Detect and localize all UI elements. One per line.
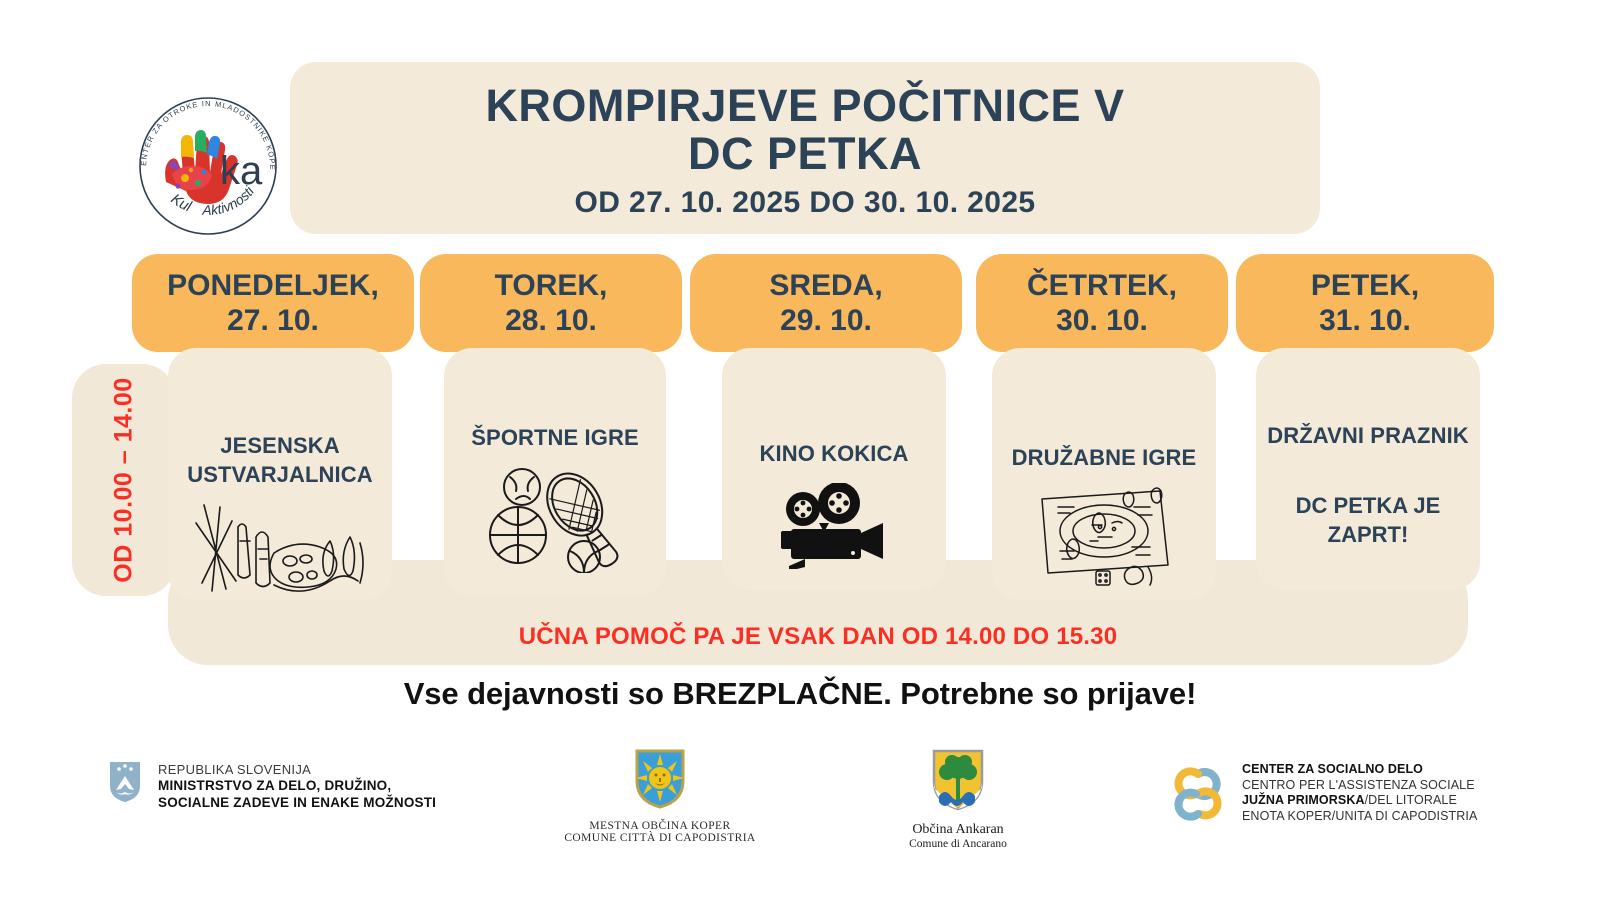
- csd-logo-icon: [1168, 758, 1230, 835]
- koper-line-1: MESTNA OBČINA KOPER: [564, 820, 755, 832]
- day-date: 27. 10.: [227, 303, 319, 338]
- day-header-row: PONEDELJEK, 27. 10. TOREK, 28. 10. SREDA…: [0, 254, 1600, 352]
- day-header-thursday: ČETRTEK, 30. 10.: [976, 254, 1228, 352]
- title-card: KROMPIRJEVE POČITNICE V DC PETKA OD 27. …: [290, 62, 1320, 234]
- activity-card-friday: DRŽAVNI PRAZNIK DC PETKA JE ZAPRT!: [1256, 348, 1480, 590]
- activity-card-row: JESENSKA USTVARJALNICA: [0, 348, 1600, 608]
- csd-line-4: ENOTA KOPER/UNITA DI CAPODISTRIA: [1242, 809, 1477, 825]
- ministry-line-2: MINISTRSTVO ZA DELO, DRUŽINO,: [158, 778, 436, 795]
- page-title-line-1: KROMPIRJEVE POČITNICE V: [485, 80, 1124, 131]
- ministry-line-1: REPUBLIKA SLOVENIJA: [158, 762, 436, 778]
- day-name: SREDA,: [769, 268, 882, 303]
- page-title: KROMPIRJEVE POČITNICE V DC PETKA: [485, 82, 1124, 177]
- csd-line-3: JUŽNA PRIMORSKA/DEL LITORALE: [1242, 793, 1477, 809]
- activity-card-tuesday: ŠPORTNE IGRE: [444, 348, 666, 596]
- footer-logo-ministry: REPUBLIKA SLOVENIJA MINISTRSTVO ZA DELO,…: [108, 760, 436, 812]
- kul-aktivnosti-hand-logo: DNEVNI CENTER ZA OTROKE IN MLADOSTNIKE K…: [128, 86, 288, 246]
- tutoring-note: UČNA POMOČ PA JE VSAK DAN OD 14.00 DO 15…: [168, 615, 1468, 659]
- activity-card-thursday: DRUŽABNE IGRE: [992, 348, 1216, 600]
- ankaran-line-1: Občina Ankaran: [909, 822, 1007, 838]
- svg-text:ka: ka: [220, 149, 263, 193]
- day-name: PONEDELJEK,: [167, 268, 379, 303]
- board-game-icon: [1028, 481, 1180, 589]
- film-projector-icon: [775, 483, 893, 569]
- footer-logo-koper: MESTNA OBČINA KOPER COMUNE CITTÀ DI CAPO…: [560, 748, 760, 844]
- poster-root: DNEVNI CENTER ZA OTROKE IN MLADOSTNIKE K…: [0, 0, 1600, 900]
- day-date: 29. 10.: [780, 303, 872, 338]
- day-header-wednesday: SREDA, 29. 10.: [690, 254, 962, 352]
- csd-line-3-rest: /DEL LITORALE: [1365, 793, 1457, 807]
- csd-line-3-bold: JUŽNA PRIMORSKA: [1242, 793, 1365, 807]
- day-header-friday: PETEK, 31. 10.: [1236, 254, 1494, 352]
- ankaran-coat-of-arms-icon: [931, 748, 985, 817]
- activity-title: JESENSKA USTVARJALNICA: [168, 432, 392, 489]
- art-supplies-icon: [182, 497, 378, 597]
- day-date: 30. 10.: [1056, 303, 1148, 338]
- footer-logos: REPUBLIKA SLOVENIJA MINISTRSTVO ZA DELO,…: [0, 748, 1600, 858]
- page-subtitle: OD 27. 10. 2025 DO 30. 10. 2025: [574, 186, 1035, 220]
- csd-line-2: CENTRO PER L'ASSISTENZA SOCIALE: [1242, 778, 1477, 794]
- ministry-line-3: SOCIALNE ZADEVE IN ENAKE MOŽNOSTI: [158, 795, 436, 812]
- day-date: 31. 10.: [1319, 303, 1411, 338]
- activity-title: KINO KOKICA: [752, 440, 917, 469]
- page-title-line-2: DC PETKA: [688, 128, 922, 179]
- slovenia-coat-of-arms-icon: [108, 760, 142, 809]
- day-date: 28. 10.: [505, 303, 597, 338]
- activity-title: DRŽAVNI PRAZNIK: [1259, 422, 1477, 451]
- sports-balls-racket-icon: [480, 463, 630, 573]
- activity-card-monday: JESENSKA USTVARJALNICA: [168, 348, 392, 600]
- ankaran-line-2: Comune di Ancarano: [909, 838, 1007, 850]
- day-name: ČETRTEK,: [1027, 268, 1177, 303]
- koper-line-2: COMUNE CITTÀ DI CAPODISTRIA: [564, 832, 755, 844]
- activity-card-wednesday: KINO KOKICA: [722, 348, 946, 590]
- footer-logo-csd: CENTER ZA SOCIALNO DELO CENTRO PER L'ASS…: [1168, 758, 1477, 835]
- free-activities-note: Vse dejavnosti so BREZPLAČNE. Potrebne s…: [0, 676, 1600, 712]
- csd-line-1: CENTER ZA SOCIALNO DELO: [1242, 762, 1477, 778]
- koper-coat-of-arms-icon: [634, 748, 686, 815]
- day-header-tuesday: TOREK, 28. 10.: [420, 254, 682, 352]
- day-header-monday: PONEDELJEK, 27. 10.: [132, 254, 414, 352]
- footer-logo-ankaran: Občina Ankaran Comune di Ancarano: [858, 748, 1058, 850]
- activity-title: DRUŽABNE IGRE: [1004, 444, 1205, 473]
- activity-note: DC PETKA JE ZAPRT!: [1256, 491, 1480, 550]
- activity-title: ŠPORTNE IGRE: [463, 424, 646, 453]
- day-name: PETEK,: [1311, 268, 1419, 303]
- day-name: TOREK,: [495, 268, 608, 303]
